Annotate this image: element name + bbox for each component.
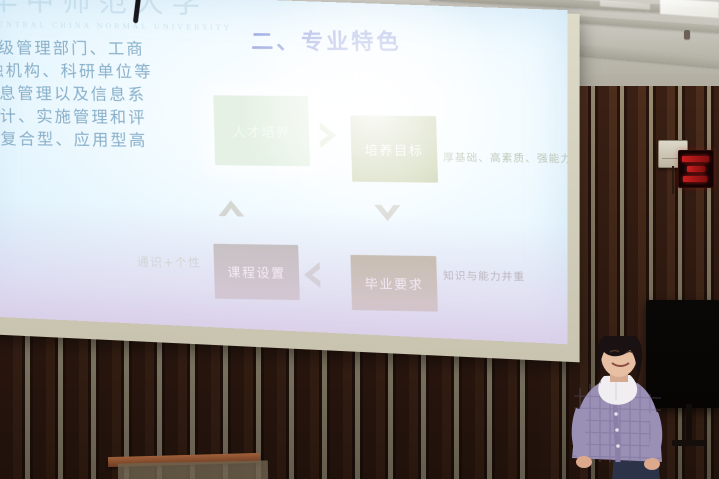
arrow-up-icon bbox=[216, 194, 247, 220]
projection-screen: 华中师范大学 CENTRAL CHINA NORMAL UNIVERSITY 二… bbox=[0, 0, 568, 344]
diagram-note-top-right: 厚基础、高素质、强能力 bbox=[443, 150, 568, 167]
lecture-hall-photo: 华中师范大学 CENTRAL CHINA NORMAL UNIVERSITY 二… bbox=[0, 0, 719, 479]
arrow-left-icon bbox=[298, 260, 325, 290]
cycle-diagram: 人才培养 培养目标 课程设置 毕业要求 厚基础、高素质、强能力 知识与能力并重 … bbox=[0, 0, 568, 344]
monitor-stand bbox=[686, 404, 692, 444]
diagram-note-bottom-right: 知识与能力并重 bbox=[443, 268, 525, 284]
diagram-box-top-right: 培养目标 bbox=[350, 115, 438, 182]
ledge-panel bbox=[118, 460, 268, 479]
arrow-right-icon bbox=[316, 120, 343, 150]
presenter-hand-left bbox=[576, 456, 592, 468]
arrow-down-icon bbox=[372, 201, 403, 228]
wall-box-conduit bbox=[672, 166, 674, 194]
diagram-box-top-left: 人才培养 bbox=[213, 95, 310, 166]
sprinkler-head bbox=[684, 30, 690, 39]
presenter bbox=[548, 336, 683, 479]
diagram-note-bottom-left: 通识+个性 bbox=[137, 253, 202, 271]
diagram-box-bottom-left: 课程设置 bbox=[213, 244, 299, 300]
slide-content: 华中师范大学 CENTRAL CHINA NORMAL UNIVERSITY 二… bbox=[0, 0, 568, 344]
diagram-box-bottom-right: 毕业要求 bbox=[350, 255, 437, 312]
red-led-display bbox=[678, 150, 714, 188]
presenter-hand-right bbox=[644, 458, 660, 470]
